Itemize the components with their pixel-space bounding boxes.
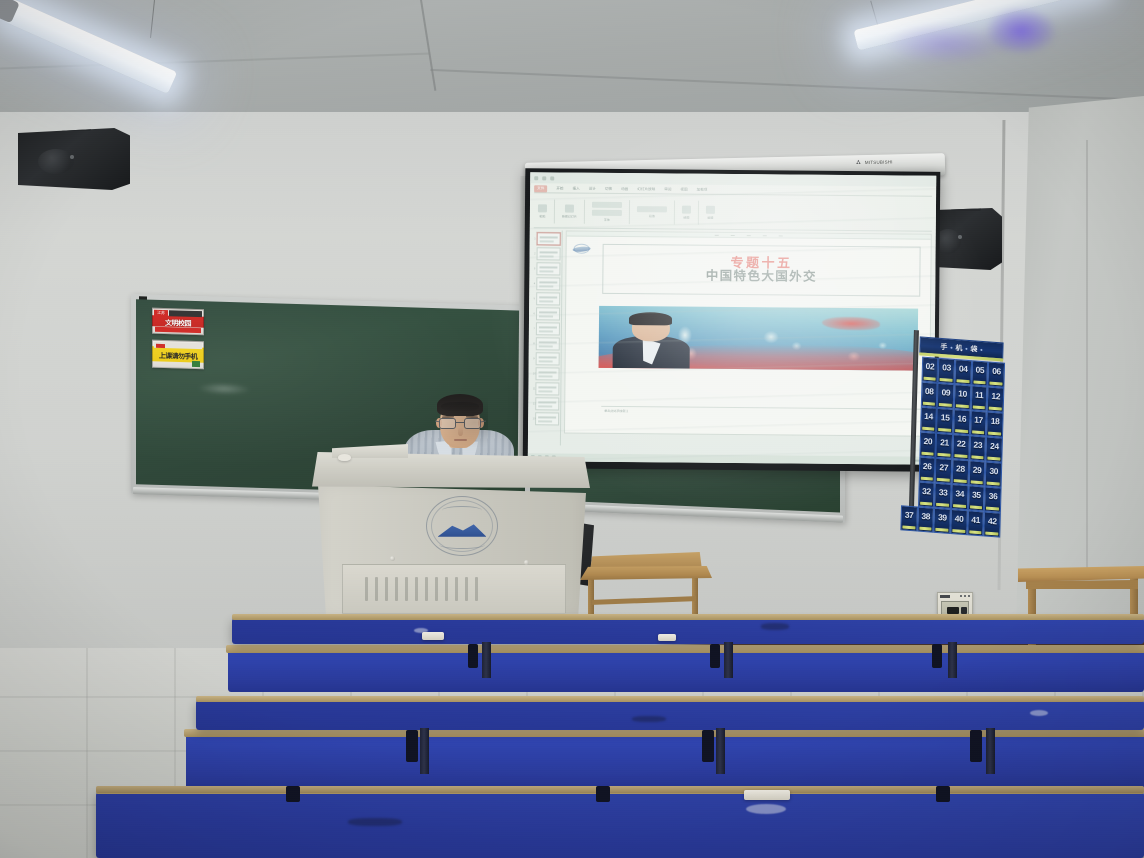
pocket-slot[interactable]: 18 xyxy=(986,411,1003,437)
podium-body xyxy=(318,482,586,620)
pocket-number: 28 xyxy=(956,463,965,474)
bench-gap xyxy=(710,644,720,668)
thumbnail-line xyxy=(539,360,553,362)
thumbnail-line xyxy=(538,420,552,422)
tab-insert[interactable]: 插入 xyxy=(572,186,579,191)
pocket-lip xyxy=(990,381,1003,385)
ruler-tick xyxy=(747,235,751,236)
slide-thumbnail-panel[interactable]: 1 2 3 4 xyxy=(531,230,563,445)
pocket-slot[interactable]: 05 xyxy=(971,360,988,386)
desk-leg xyxy=(948,642,957,678)
pocket-number: 36 xyxy=(989,491,998,502)
pocket-lip xyxy=(972,405,985,409)
paper-on-desk xyxy=(422,632,444,640)
save-icon[interactable] xyxy=(534,176,538,180)
slide-thumbnail[interactable]: 4 xyxy=(536,277,560,290)
classroom-photo: 江苏 文明校园 上课请勿手机 xyxy=(0,0,1144,858)
header-dot xyxy=(950,346,952,348)
pocket-slot[interactable]: 02 xyxy=(921,357,938,383)
pocket-slot[interactable]: 09 xyxy=(937,383,954,409)
pocket-number: 21 xyxy=(940,437,949,448)
thumbnail-line xyxy=(538,390,552,392)
pocket-lip xyxy=(971,455,984,459)
desk-surface xyxy=(232,618,1144,644)
desk-scuff xyxy=(761,623,789,630)
pocket-slot[interactable]: 32 xyxy=(918,482,935,508)
seatback-surface xyxy=(228,650,1144,692)
ruler-tick xyxy=(779,235,783,236)
tab-review[interactable]: 审阅 xyxy=(664,187,671,192)
podium-vent-slots xyxy=(365,577,478,601)
pocket-number: 15 xyxy=(941,412,950,423)
poster-qr-mark xyxy=(192,361,200,367)
slide-thumbnail-number: 6 xyxy=(534,312,535,315)
pocket-slot[interactable]: 27 xyxy=(935,458,952,484)
computer-mouse-icon[interactable] xyxy=(338,454,351,461)
slide-title-placeholder[interactable]: 专题十五 中国特色大国外交 xyxy=(602,244,920,297)
pocket-slot[interactable]: 26 xyxy=(918,457,935,483)
header-char-2: 机 xyxy=(955,343,962,354)
slide-title: 专题十五 xyxy=(730,256,792,270)
pocket-lip xyxy=(938,427,951,431)
slide-thumbnail[interactable]: 6 xyxy=(536,307,560,320)
pocket-slot[interactable]: 29 xyxy=(968,460,985,486)
pocket-lip xyxy=(920,476,933,480)
thumbnail-line xyxy=(540,251,558,253)
pocket-lip xyxy=(923,376,936,380)
pocket-number: 04 xyxy=(959,363,968,374)
pocket-number: 26 xyxy=(923,461,932,472)
table-top xyxy=(1018,566,1144,582)
vent-slot xyxy=(405,577,408,601)
ribbon-group-drawing[interactable]: 绘图 xyxy=(682,205,691,219)
bench-rail xyxy=(592,596,696,605)
header-dot xyxy=(965,347,967,349)
pocket-lip xyxy=(952,529,965,533)
pocket-lip xyxy=(970,505,983,509)
slide-thumbnail-number: 4 xyxy=(534,282,535,285)
wall-plate-label xyxy=(940,595,950,598)
podium-screw xyxy=(524,560,529,565)
pocket-slot[interactable]: 21 xyxy=(936,433,953,459)
pocket-slot-hidden xyxy=(905,355,922,381)
thumbnail-line xyxy=(538,416,556,418)
slide-thumbnail[interactable]: 2 xyxy=(537,247,561,260)
thumbnail-line xyxy=(539,371,557,373)
vent-slot xyxy=(385,577,388,601)
pocket-number: 16 xyxy=(957,413,966,424)
poster-headline: 文明校园 xyxy=(155,317,201,330)
vent-slot xyxy=(435,577,438,601)
pocket-number: 11 xyxy=(975,390,983,401)
pocket-slot[interactable]: 42 xyxy=(984,511,1001,537)
shapes-icon[interactable] xyxy=(682,205,691,213)
ceiling-seam xyxy=(430,69,1144,101)
pocket-number: 41 xyxy=(971,514,980,525)
thumbnail-line xyxy=(540,255,554,257)
pocket-lip xyxy=(937,477,950,481)
bench-gap xyxy=(468,644,478,668)
leader-portrait-graphic xyxy=(611,311,694,369)
pocket-number: 05 xyxy=(975,365,984,376)
wall-corner-edge xyxy=(1086,140,1088,580)
new-slide-icon[interactable] xyxy=(565,204,574,212)
glasses-lens xyxy=(464,418,481,429)
pocket-lip xyxy=(902,525,915,529)
pocket-number: 09 xyxy=(941,387,950,398)
ribbon-group-new-slide[interactable]: 新建幻灯片 xyxy=(562,204,577,218)
wooden-bench-center-right xyxy=(580,566,712,620)
pocket-slot[interactable]: 08 xyxy=(920,382,937,408)
pocket-lip xyxy=(922,426,935,430)
pocket-number: 17 xyxy=(974,415,983,426)
presenter-mouth xyxy=(454,439,467,441)
ribbon-group-label: 新建幻灯片 xyxy=(562,214,577,218)
pocket-lip xyxy=(986,531,999,535)
pocket-lip xyxy=(936,502,949,506)
slide-thumbnail-number: 13 xyxy=(533,417,536,420)
ribbon-group-label: 字体 xyxy=(604,217,610,221)
seatback-edge xyxy=(226,645,1144,653)
pocket-lip xyxy=(953,504,966,508)
tab-animations[interactable]: 动画 xyxy=(621,187,628,192)
bench-gap xyxy=(970,730,982,762)
ribbon-group-paragraph[interactable]: 段落 xyxy=(637,206,667,218)
pocket-slot[interactable]: 37 xyxy=(900,505,917,531)
desk-row-far xyxy=(232,618,1144,644)
slide-thumbnail-number: 2 xyxy=(534,252,535,255)
pocket-lip xyxy=(989,406,1002,410)
slide-thumbnail-number: 1 xyxy=(534,237,535,240)
pocket-number: 23 xyxy=(973,440,982,451)
pocket-lip xyxy=(939,402,952,406)
pocket-slot[interactable]: 30 xyxy=(985,461,1002,487)
vent-slot xyxy=(465,577,468,601)
desk-leg xyxy=(482,642,491,678)
slide-thumbnail[interactable]: 12 xyxy=(535,397,559,410)
pocket-slot[interactable]: 06 xyxy=(988,361,1005,387)
slide-thumbnail[interactable]: 13 xyxy=(535,412,559,425)
pocket-slot[interactable]: 35 xyxy=(968,485,985,511)
podium-front-panel xyxy=(342,564,566,614)
desk-scuff xyxy=(348,818,402,826)
network-socket-icon[interactable] xyxy=(961,607,967,614)
poster-corner-tag: 江苏 xyxy=(154,310,168,316)
slide-thumbnail-number: 5 xyxy=(534,297,535,300)
pocket-slot[interactable]: 03 xyxy=(938,358,955,384)
tab-transitions[interactable]: 切换 xyxy=(605,186,612,191)
ruler-tick xyxy=(731,234,735,235)
ceiling-seam xyxy=(0,52,430,69)
pocket-slot[interactable]: 24 xyxy=(986,436,1003,462)
chalk-smudge xyxy=(198,382,250,396)
vga-socket-icon[interactable] xyxy=(947,607,959,614)
bench-gap xyxy=(286,786,300,802)
bench-gap xyxy=(932,644,942,668)
mitsubishi-three-diamond-icon: MITSUBISHI xyxy=(855,158,893,166)
pocket-number: 18 xyxy=(991,416,1000,427)
thumbnail-line xyxy=(539,330,553,332)
pocket-lip xyxy=(970,480,983,484)
pocket-slot[interactable]: 33 xyxy=(934,483,951,509)
pocket-slot[interactable]: 11 xyxy=(970,385,987,411)
poster-bottom-bar xyxy=(155,327,201,333)
ribbon-group-font[interactable]: 字体 xyxy=(592,201,622,221)
slide-subtitle: 中国特色大国外交 xyxy=(706,270,817,285)
tab-addins[interactable]: 加载项 xyxy=(697,187,708,192)
ribbon-separator xyxy=(554,199,555,223)
notice-poster-yellow: 上课请勿手机 xyxy=(152,340,204,370)
pocket-slot[interactable]: 28 xyxy=(952,459,969,485)
pocket-slot-hidden xyxy=(902,455,919,481)
pocket-slot[interactable]: 10 xyxy=(954,384,971,410)
pocket-slot[interactable]: 16 xyxy=(953,409,970,435)
pocket-lip xyxy=(919,526,932,530)
pocket-lip xyxy=(954,454,967,458)
vent-slot xyxy=(395,577,398,601)
slide-thumbnail[interactable]: 10 xyxy=(535,367,559,380)
ribbon-group-paste[interactable]: 粘贴 xyxy=(538,204,547,218)
bench-gap xyxy=(406,730,418,762)
ribbon-group-label: 段落 xyxy=(649,214,655,218)
header-dot xyxy=(980,348,982,350)
poster-top-strip xyxy=(154,342,202,349)
ruler-tick xyxy=(763,235,767,236)
slide-thumbnail[interactable]: 3 xyxy=(536,262,560,275)
pocket-slot-hidden xyxy=(902,430,919,456)
pocket-number: 02 xyxy=(925,361,934,372)
pocket-lip xyxy=(969,530,982,534)
pocket-slot[interactable]: 14 xyxy=(920,407,937,433)
pocket-slot[interactable]: 39 xyxy=(934,508,951,534)
desk-row-middle xyxy=(196,700,1144,730)
desk-leg xyxy=(986,728,995,774)
desk-leg xyxy=(716,728,725,774)
pocket-slot-hidden xyxy=(901,480,918,506)
slide-thumbnail[interactable]: 5 xyxy=(536,292,560,305)
desk-front-rail xyxy=(96,786,1144,793)
desk-front-edge xyxy=(232,614,1144,620)
pocket-number: 39 xyxy=(938,512,947,523)
seatback-surface xyxy=(186,734,1144,790)
pocket-slot[interactable]: 15 xyxy=(936,408,953,434)
table-apron xyxy=(1026,580,1138,589)
pocket-lip xyxy=(921,451,934,455)
thumbnail-line xyxy=(538,401,556,403)
mitsubishi-wordmark: MITSUBISHI xyxy=(865,159,893,165)
vent-slot xyxy=(425,577,428,601)
thumbnail-line xyxy=(539,341,557,343)
vent-slot xyxy=(455,577,458,601)
thumbnail-line xyxy=(539,300,553,302)
pocket-lip xyxy=(988,431,1001,435)
bench-leg xyxy=(692,574,698,614)
slide-hero-image[interactable] xyxy=(599,306,919,371)
desk-leg xyxy=(420,728,429,774)
bench-gap xyxy=(936,786,950,802)
tab-home[interactable]: 开始 xyxy=(556,186,563,191)
thumbnail-line xyxy=(539,326,557,328)
thumbnail-line xyxy=(539,356,557,358)
speaker-cone xyxy=(38,149,74,174)
pocket-number: 37 xyxy=(905,510,914,521)
thumbnail-line xyxy=(539,285,553,287)
wall-speaker-left xyxy=(18,128,130,190)
slide-thumbnail-number: 9 xyxy=(533,357,534,360)
pocket-number: 08 xyxy=(925,386,934,397)
pocket-slot[interactable]: 36 xyxy=(984,486,1001,512)
paste-icon[interactable] xyxy=(538,204,547,212)
tab-file[interactable]: 文件 xyxy=(534,185,547,192)
pocket-number: 12 xyxy=(991,391,1000,402)
pocket-lip xyxy=(920,501,933,505)
pocket-slot[interactable]: 41 xyxy=(967,510,984,536)
podium-screw xyxy=(390,556,395,561)
pocket-slot[interactable]: 40 xyxy=(950,509,967,535)
swoosh-emblem-icon xyxy=(573,244,591,254)
pocket-number: 29 xyxy=(973,465,982,476)
thumbnail-line xyxy=(540,240,554,242)
phone-pocket-board: 手 机 袋 02 03 04 05 xyxy=(900,335,1005,536)
slide-ruler xyxy=(567,232,931,240)
phone-pocket-grid: 02 03 04 05 06 08 xyxy=(900,355,1005,537)
notice-poster-red: 江苏 文明校园 xyxy=(152,308,204,336)
indicator-dot xyxy=(964,595,966,597)
pocket-lip xyxy=(956,404,969,408)
pocket-slot[interactable]: 12 xyxy=(987,386,1004,412)
pocket-lip xyxy=(987,481,1000,485)
pocket-number: 34 xyxy=(955,488,964,499)
align-buttons-row[interactable] xyxy=(637,206,667,212)
thumbnail-line xyxy=(540,236,558,238)
pocket-slot-hidden xyxy=(904,380,921,406)
ribbon-separator xyxy=(698,200,699,224)
poster-brand-mark xyxy=(156,344,165,348)
desk-leg xyxy=(724,642,733,678)
slide-thumbnail[interactable]: 9 xyxy=(536,352,560,365)
thumbnail-line xyxy=(539,281,557,283)
header-char-1: 手 xyxy=(940,341,947,352)
pocket-number: 35 xyxy=(972,489,981,500)
pocket-number: 33 xyxy=(939,487,948,498)
powerpoint-window: 文件 开始 插入 设计 切换 动画 幻灯片放映 审阅 视图 加载项 粘贴 xyxy=(528,172,937,465)
vent-slot xyxy=(475,577,478,601)
poster-headline: 上课请勿手机 xyxy=(155,350,201,363)
bench-seatback-far xyxy=(228,650,1144,692)
projection-screen: 文件 开始 插入 设计 切换 动画 幻灯片放映 审阅 视图 加载项 粘贴 xyxy=(523,168,941,472)
desk-wear-mark xyxy=(746,804,786,814)
desk-wear-mark xyxy=(1030,710,1048,716)
pocket-slot[interactable]: 20 xyxy=(919,432,936,458)
thumbnail-line xyxy=(539,315,553,317)
bench-seatback-middle xyxy=(186,734,1144,790)
slide-thumbnail-number: 3 xyxy=(534,267,535,270)
vent-slot xyxy=(415,577,418,601)
thumbnail-line xyxy=(539,270,553,272)
ribbon-group-label: 粘贴 xyxy=(539,214,545,218)
pocket-lip xyxy=(972,430,985,434)
thumbnail-line xyxy=(538,386,556,388)
pocket-lip xyxy=(938,452,951,456)
pocket-number: 30 xyxy=(989,466,998,477)
undo-icon[interactable] xyxy=(542,176,546,180)
ruler-tick xyxy=(715,234,719,235)
pocket-slot[interactable]: 23 xyxy=(969,435,986,461)
thumbnail-line xyxy=(539,266,557,268)
desk-row-near xyxy=(96,792,1144,858)
slide-thumbnail-number: 7 xyxy=(533,327,534,330)
speaker-logo-dot xyxy=(70,155,74,159)
vent-slot xyxy=(365,577,368,601)
pocket-lip xyxy=(988,456,1001,460)
pocket-slot[interactable]: 04 xyxy=(954,359,971,385)
pocket-number: 10 xyxy=(958,388,967,399)
ribbon-separator xyxy=(584,199,585,223)
pocket-number: 40 xyxy=(955,513,964,524)
ribbon-toolbar[interactable]: 粘贴 新建幻灯片 字体 段 xyxy=(534,194,932,231)
redo-icon[interactable] xyxy=(550,176,554,180)
ribbon-separator xyxy=(629,200,630,224)
font-name-combobox[interactable] xyxy=(592,201,622,207)
speaker-logo-dot xyxy=(958,235,962,239)
tube-end-cap xyxy=(0,0,20,23)
seatback-edge xyxy=(184,729,1144,737)
wall-plate-indicators xyxy=(960,595,970,597)
bench-gap xyxy=(702,730,714,762)
pocket-slot[interactable]: 22 xyxy=(952,434,969,460)
thumbnail-line xyxy=(539,296,557,298)
pocket-lip xyxy=(923,401,936,405)
desk-front-edge xyxy=(196,696,1144,702)
pocket-slot[interactable]: 34 xyxy=(951,484,968,510)
tube-violet-glow xyxy=(986,8,1056,54)
indicator-dot xyxy=(968,595,970,597)
paper-on-desk xyxy=(744,790,790,800)
slide-editing-stage[interactable]: 专题十五 中国特色大国外交 单击此处 xyxy=(564,231,932,437)
header-char-3: 袋 xyxy=(970,344,977,355)
university-seal-icon xyxy=(426,496,498,556)
tab-slideshow[interactable]: 幻灯片放映 xyxy=(637,187,655,192)
desk-surface xyxy=(96,792,1144,858)
slide-thumbnail[interactable]: 8 xyxy=(536,337,560,350)
indicator-dot xyxy=(960,595,962,597)
slide-thumbnail[interactable]: 7 xyxy=(536,322,560,335)
poster-top-bar xyxy=(169,310,202,317)
slide-thumbnail[interactable]: 11 xyxy=(535,382,559,395)
notes-pane[interactable]: 单击此处添加备注 xyxy=(601,406,925,428)
pocket-number: 42 xyxy=(988,516,997,527)
presenter-hair xyxy=(437,394,483,416)
pocket-slot[interactable]: 17 xyxy=(970,410,987,436)
tab-view[interactable]: 视图 xyxy=(680,187,687,192)
thumbnail-line xyxy=(538,405,552,407)
thumbnail-line xyxy=(538,375,552,377)
presenter-nose xyxy=(458,427,463,436)
ribbon-group-label: 绘图 xyxy=(683,215,689,219)
ribbon-group-editing[interactable]: 编辑 xyxy=(706,205,715,219)
pocket-slot[interactable]: 38 xyxy=(917,507,934,533)
statusbar-spacer xyxy=(559,457,909,460)
bench-gap xyxy=(596,786,610,802)
find-icon[interactable] xyxy=(706,205,715,213)
tab-design[interactable]: 设计 xyxy=(589,186,596,191)
pocket-lip xyxy=(957,379,970,383)
pocket-lip xyxy=(973,380,986,384)
font-size-combobox[interactable] xyxy=(592,209,622,215)
slide-thumbnail[interactable]: 1 xyxy=(537,232,561,245)
pocket-lip xyxy=(955,429,968,433)
desk-scuff xyxy=(632,716,666,722)
